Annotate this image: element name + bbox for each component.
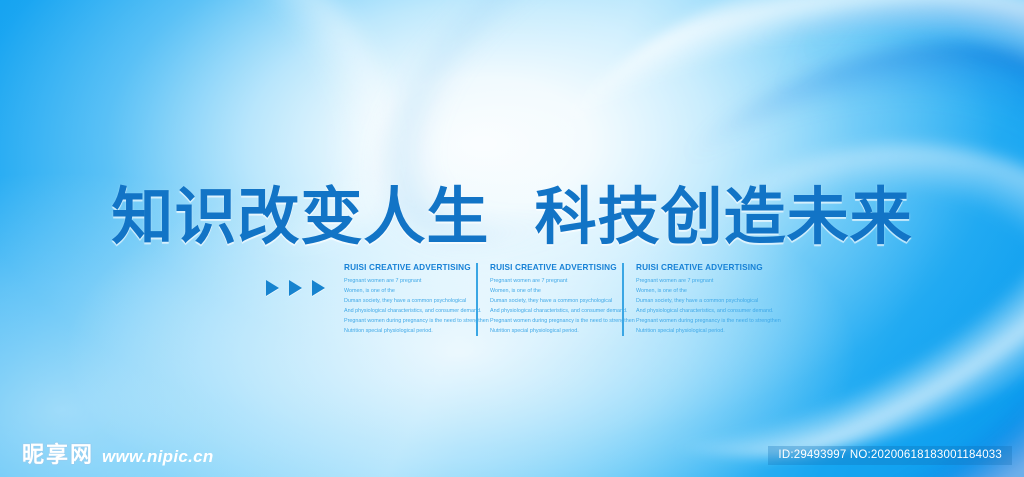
play-arrow-icon xyxy=(266,280,279,296)
column-body-line: And physiological characteristics, and c… xyxy=(636,306,758,316)
watermark-logo: 昵享网 xyxy=(22,437,94,469)
column-body-line: Pregnant women are 7 pregnant xyxy=(344,276,466,286)
text-column-group: RUISI CREATIVE ADVERTISING Pregnant wome… xyxy=(344,263,768,336)
text-column: RUISI CREATIVE ADVERTISING Pregnant wome… xyxy=(622,263,768,336)
column-body-line: Women, is one of the xyxy=(636,286,758,296)
column-body: Pregnant women are 7 pregnant Women, is … xyxy=(490,276,612,336)
column-body: Pregnant women are 7 pregnant Women, is … xyxy=(344,276,466,336)
column-body-line: Pregnant women during pregnancy is the n… xyxy=(344,316,466,326)
watermark-url: www.nipic.cn xyxy=(102,447,214,467)
column-body-line: And physiological characteristics, and c… xyxy=(490,306,612,316)
column-body-line: Nutrition special physiological period. xyxy=(490,326,612,336)
column-body-line: Women, is one of the xyxy=(344,286,466,296)
column-body-line: Duman society, they have a common psycho… xyxy=(636,296,758,306)
arrow-decoration-group xyxy=(266,280,325,296)
headline-title: 知识改变人生 科技创造未来 xyxy=(0,186,1024,248)
site-watermark: 昵享网 www.nipic.cn xyxy=(22,437,214,469)
column-body-line: Duman society, they have a common psycho… xyxy=(490,296,612,306)
column-body-line: Nutrition special physiological period. xyxy=(636,326,758,336)
text-column: RUISI CREATIVE ADVERTISING Pregnant wome… xyxy=(476,263,622,336)
column-body-line: Duman society, they have a common psycho… xyxy=(344,296,466,306)
promotional-banner: 知识改变人生 科技创造未来 RUISI CREATIVE ADVERTISING… xyxy=(0,0,1024,477)
column-body-line: Pregnant women during pregnancy is the n… xyxy=(490,316,612,326)
image-id-badge: ID:29493997 NO:20200618183001184033 xyxy=(768,446,1012,465)
column-title: RUISI CREATIVE ADVERTISING xyxy=(490,263,612,272)
column-body-line: Pregnant women during pregnancy is the n… xyxy=(636,316,758,326)
play-arrow-icon xyxy=(289,280,302,296)
column-title: RUISI CREATIVE ADVERTISING xyxy=(344,263,466,272)
column-body: Pregnant women are 7 pregnant Women, is … xyxy=(636,276,758,336)
column-body-line: And physiological characteristics, and c… xyxy=(344,306,466,316)
column-body-line: Pregnant women are 7 pregnant xyxy=(636,276,758,286)
column-title: RUISI CREATIVE ADVERTISING xyxy=(636,263,758,272)
column-body-line: Nutrition special physiological period. xyxy=(344,326,466,336)
text-column: RUISI CREATIVE ADVERTISING Pregnant wome… xyxy=(344,263,476,336)
play-arrow-icon xyxy=(312,280,325,296)
column-body-line: Pregnant women are 7 pregnant xyxy=(490,276,612,286)
column-body-line: Women, is one of the xyxy=(490,286,612,296)
